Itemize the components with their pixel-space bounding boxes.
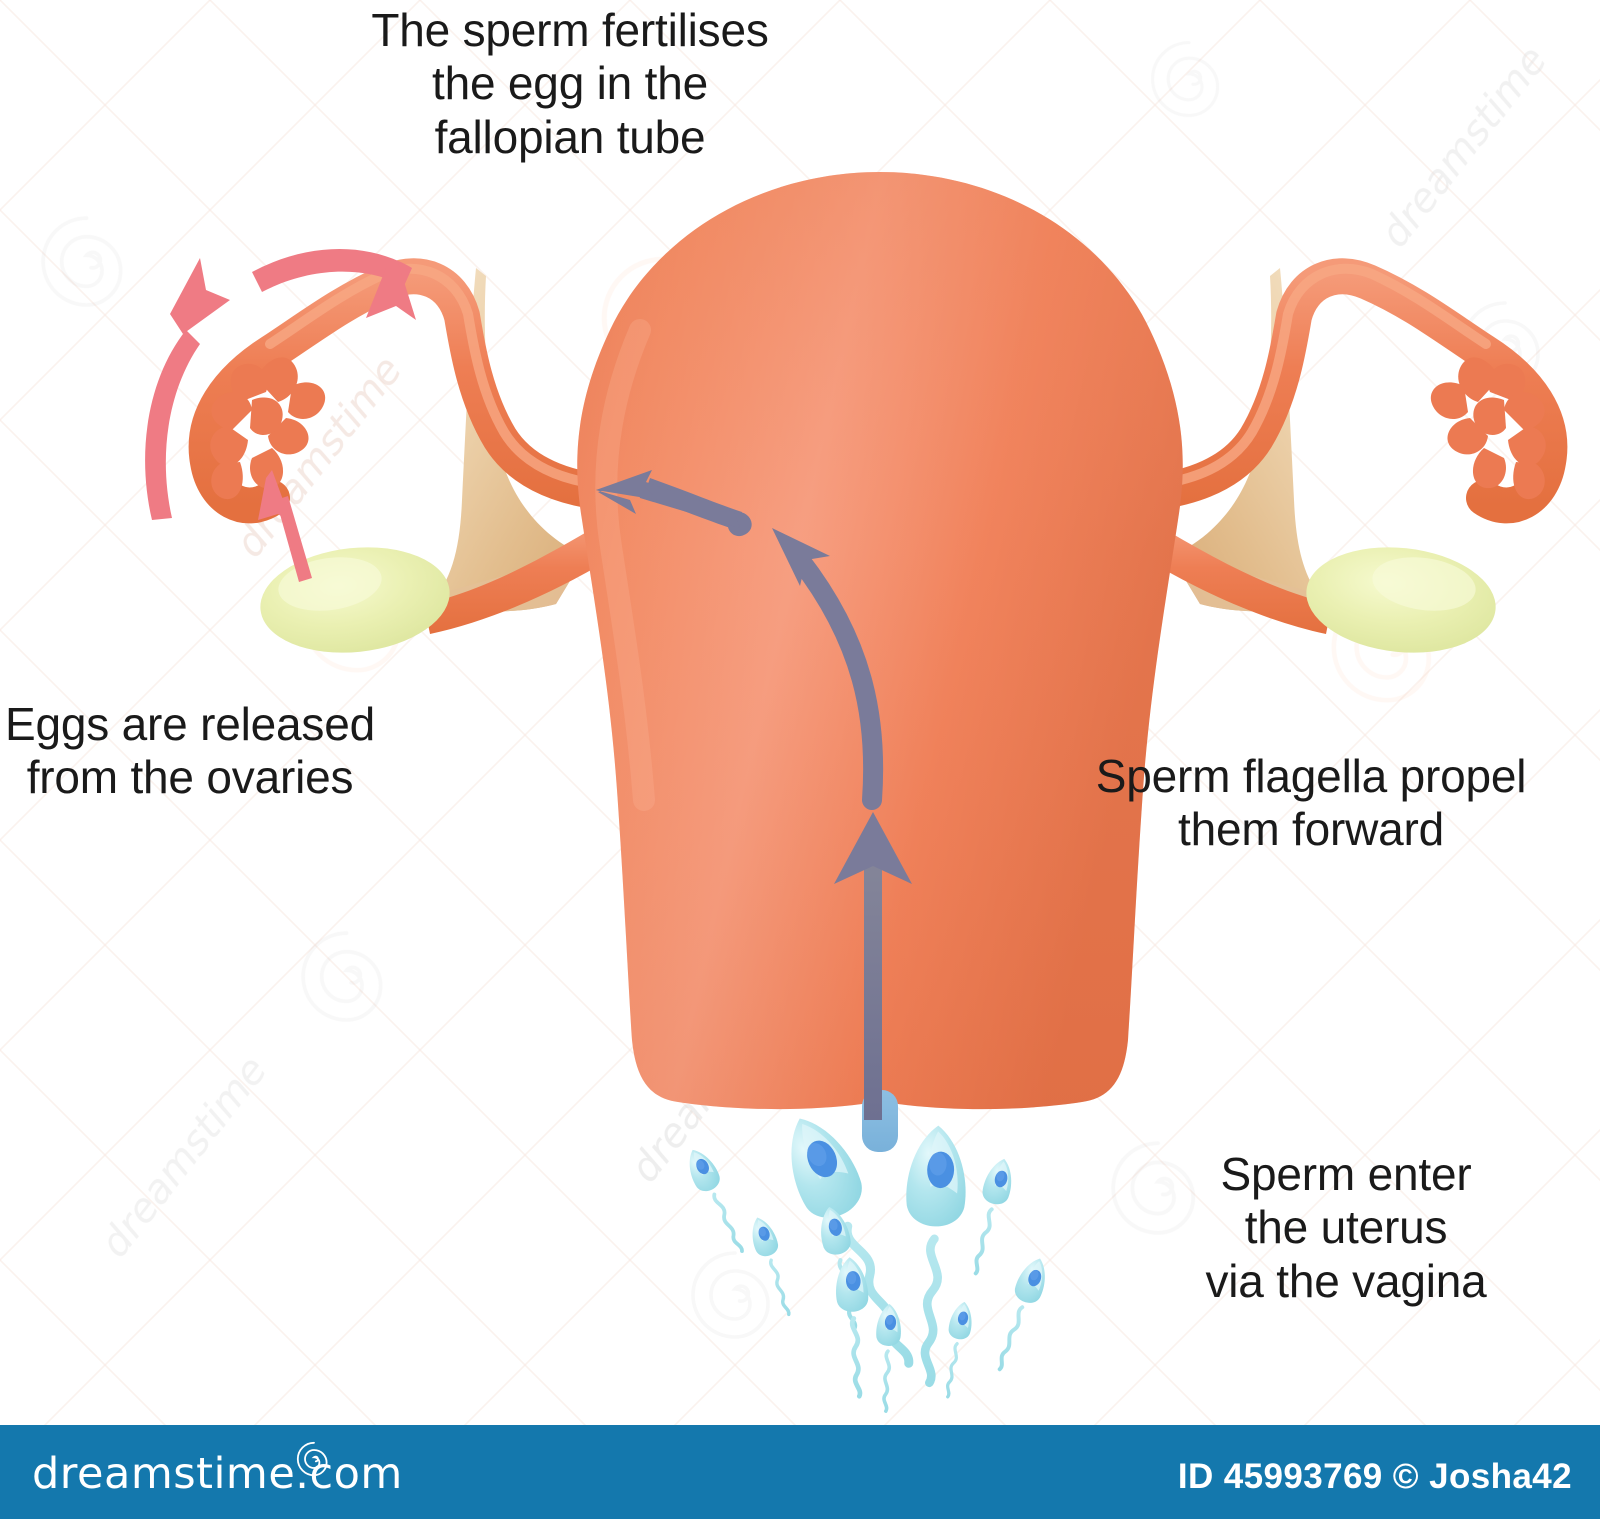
label-sperm-flagella: Sperm flagella propel them forward <box>1026 750 1596 857</box>
watermark-footer-bar: dreamstime.com ID 45993769 © Josha42 <box>0 1425 1600 1519</box>
dreamstime-spiral-icon <box>296 1441 332 1477</box>
label-fertilisation: The sperm fertilises the egg in the fall… <box>290 4 850 164</box>
image-id-credit: ID 45993769 © Josha42 <box>1178 1457 1572 1497</box>
label-sperm-enter: Sperm enter the uterus via the vagina <box>1106 1148 1586 1308</box>
label-eggs-released: Eggs are released from the ovaries <box>0 698 394 805</box>
dreamstime-logo-text[interactable]: dreamstime.com <box>32 1449 403 1499</box>
illustration-canvas: dreamstime dreamstime dreamstime dreamst… <box>0 0 1600 1519</box>
